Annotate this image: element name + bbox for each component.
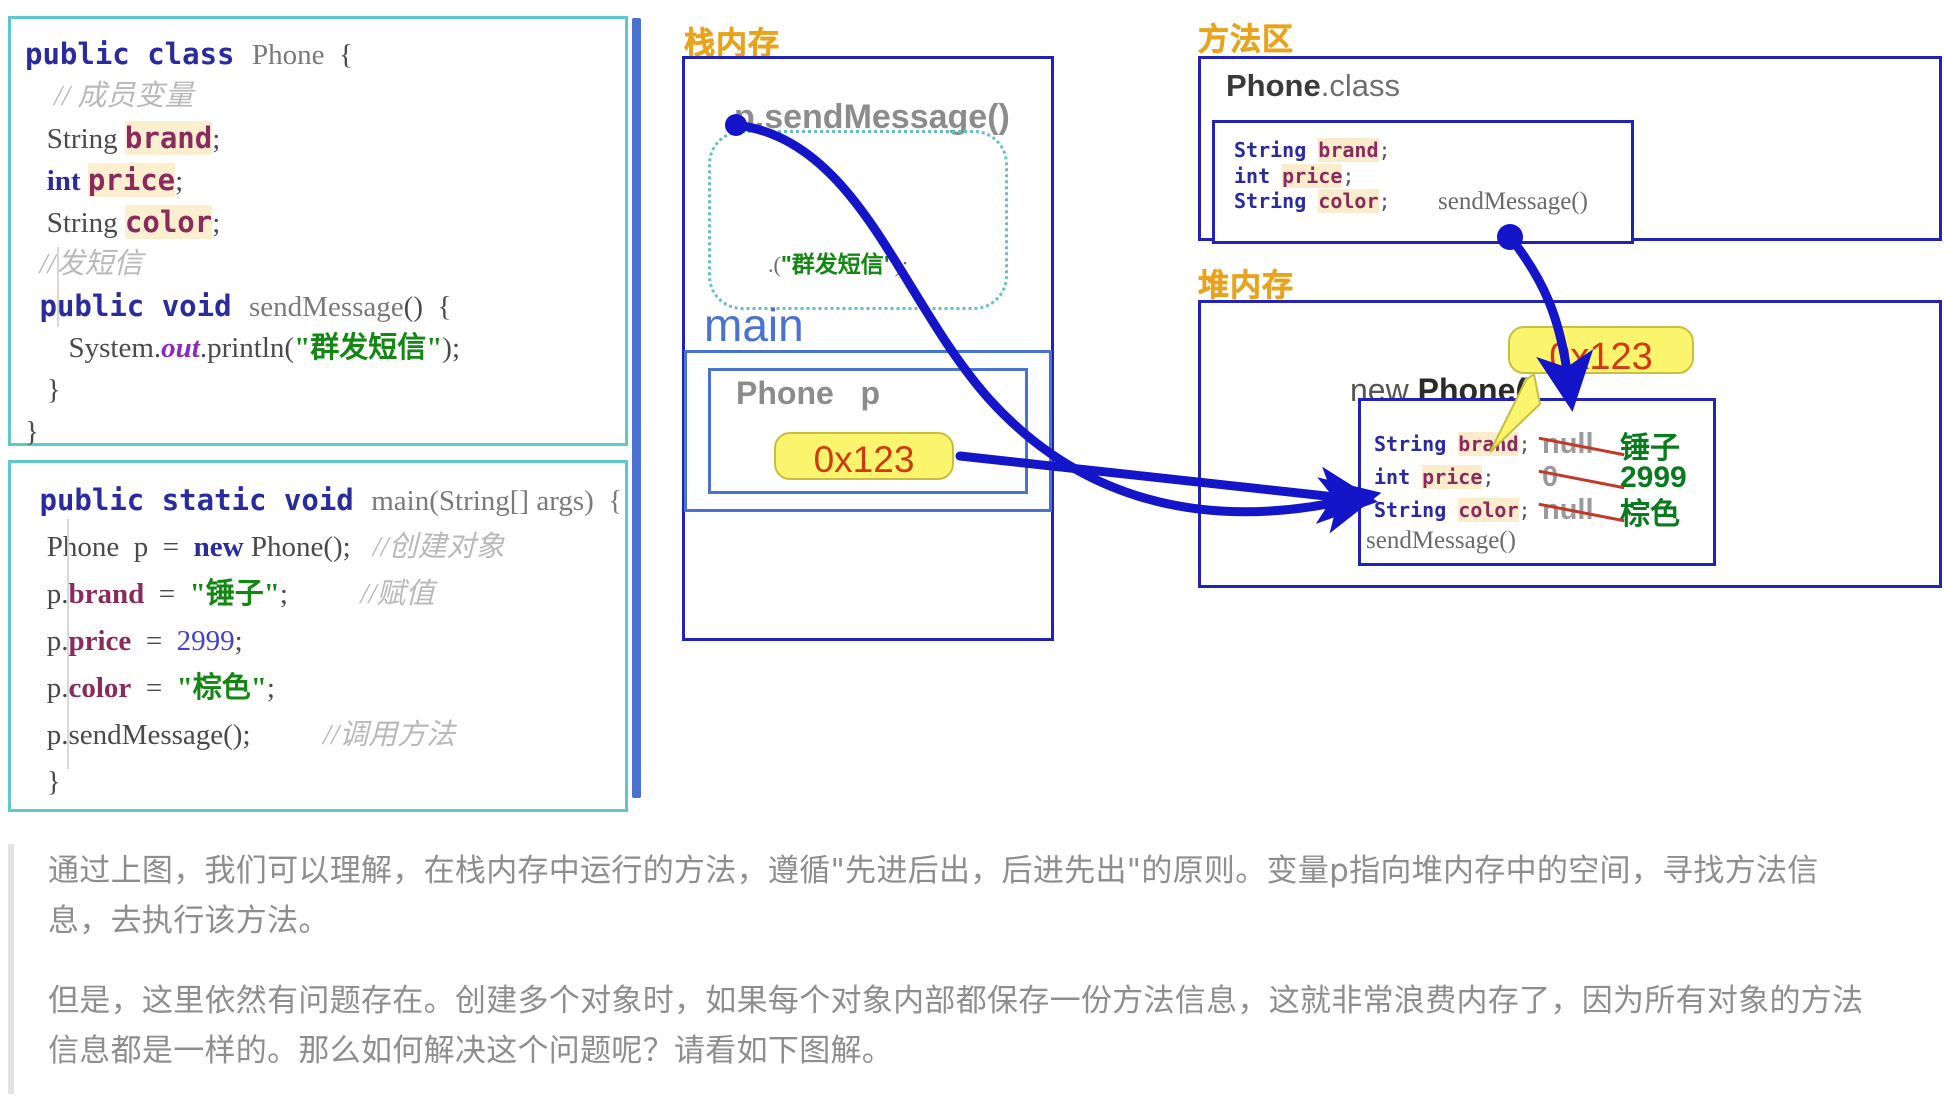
code-token: brand bbox=[69, 578, 145, 610]
field-name: brand bbox=[1458, 432, 1518, 456]
code-token: ; bbox=[212, 207, 220, 239]
page-root: public class Phone { // 成员变量 String bran… bbox=[0, 0, 1944, 1102]
stack-frame-sendmessage-body: .("群发短信"); bbox=[768, 245, 908, 279]
code-token: Phone p = bbox=[25, 531, 194, 563]
field-type: String bbox=[1234, 189, 1306, 213]
code-token: = bbox=[131, 672, 176, 704]
code-line: int price; bbox=[25, 159, 625, 201]
code-token: } bbox=[25, 766, 61, 798]
code-token: //赋值 bbox=[360, 578, 434, 610]
field-sep: ; bbox=[1342, 164, 1354, 188]
code-token: price bbox=[88, 163, 175, 197]
code-token: p. bbox=[25, 578, 69, 610]
field-name: brand bbox=[1318, 138, 1378, 162]
code-token: } bbox=[25, 416, 39, 448]
field-sep: ; bbox=[1519, 432, 1531, 456]
code-token: //发短信 bbox=[40, 248, 143, 280]
prose-accent-bar bbox=[8, 844, 14, 1094]
code-token: public void bbox=[40, 289, 250, 323]
heap-field-decl: String brand; bbox=[1374, 432, 1542, 458]
field-type: String bbox=[1234, 138, 1306, 162]
code-token: out bbox=[161, 332, 200, 364]
prose-section: 通过上图，我们可以理解，在栈内存中运行的方法，遵循"先进后出，后进先出"的原则。… bbox=[0, 836, 1944, 1102]
method-area-zone-title: 方法区 bbox=[1198, 14, 1294, 59]
code-token: //调用方法 bbox=[323, 719, 455, 751]
field-type: int bbox=[1374, 465, 1410, 489]
method-area-field-row: String color; bbox=[1234, 189, 1391, 215]
code-token bbox=[25, 485, 40, 517]
method-area-method-label: sendMessage() bbox=[1438, 188, 1588, 216]
code-line: } bbox=[25, 411, 625, 453]
code-token: { bbox=[324, 39, 352, 71]
field-sep: ; bbox=[1379, 138, 1391, 162]
heap-field-decl: String color; bbox=[1374, 498, 1542, 524]
field-sep: ; bbox=[1519, 498, 1531, 522]
code-token: color bbox=[125, 205, 212, 239]
field-name: color bbox=[1318, 189, 1378, 213]
code-line: String color; bbox=[25, 201, 625, 243]
field-type: String bbox=[1374, 432, 1446, 456]
code-token: "棕色" bbox=[177, 672, 267, 704]
code-token: String bbox=[25, 207, 125, 239]
code-token: "群发短信" bbox=[294, 332, 442, 364]
code-column: public class Phone { // 成员变量 String bran… bbox=[8, 16, 628, 812]
code-token bbox=[25, 248, 40, 280]
code-line: String brand; bbox=[25, 117, 625, 159]
code-block-phone-class: public class Phone { // 成员变量 String bran… bbox=[8, 16, 628, 446]
code-token: "锤子" bbox=[190, 578, 280, 610]
code-token: = bbox=[144, 578, 189, 610]
code-token: ); bbox=[442, 332, 460, 364]
code-token: main(String[] args) { bbox=[371, 485, 622, 517]
code-token: p. bbox=[25, 625, 69, 657]
code-token: sendMessage bbox=[249, 291, 404, 323]
code-line: } bbox=[25, 759, 625, 806]
heap-field-row: String color;null棕色 bbox=[1374, 494, 1687, 527]
stack-variable-type: Phone bbox=[736, 375, 834, 411]
code-token: () { bbox=[404, 291, 452, 323]
heap-field-decl: int price; bbox=[1374, 465, 1542, 491]
code-token: ; bbox=[235, 625, 243, 657]
code-token: p. bbox=[25, 672, 69, 704]
code-token: Phone(); bbox=[251, 531, 373, 563]
heap-object-method-label: sendMessage() bbox=[1366, 527, 1516, 555]
field-type: String bbox=[1374, 498, 1446, 522]
heap-field-old-value: null bbox=[1542, 428, 1620, 461]
field-name: color bbox=[1458, 498, 1518, 522]
field-sep: ; bbox=[1379, 189, 1391, 213]
code-line: System.out.println("群发短信"); bbox=[25, 327, 625, 369]
code-line: p.color = "棕色"; bbox=[25, 665, 625, 712]
code-token: ; bbox=[175, 165, 183, 197]
code-token: } bbox=[25, 374, 61, 406]
code-token bbox=[25, 291, 40, 323]
heap-zone-title: 堆内存 bbox=[1198, 260, 1294, 305]
heap-field-new-value: 棕色 bbox=[1620, 489, 1680, 533]
method-area-class-name: Phone bbox=[1226, 68, 1321, 103]
stack-variable-declaration: Phone p bbox=[736, 375, 880, 412]
stack-frame-sendmessage-box bbox=[708, 130, 1008, 310]
code-token: 2999 bbox=[177, 625, 235, 657]
method-area-field-row: int price; bbox=[1234, 164, 1391, 190]
code-line: // 成员变量 bbox=[25, 75, 625, 117]
field-type: int bbox=[1234, 164, 1270, 188]
code-line: public static void main(String[] args) { bbox=[25, 477, 625, 524]
code-token: p.sendMessage(); bbox=[25, 719, 323, 751]
method-area-class-suffix: .class bbox=[1321, 68, 1400, 103]
field-name: price bbox=[1422, 465, 1482, 489]
code-line: Phone p = new Phone(); //创建对象 bbox=[25, 524, 625, 571]
code-line: p.price = 2999; bbox=[25, 618, 625, 665]
method-area-fields: String brand;int price;String color; bbox=[1234, 138, 1391, 215]
code-token bbox=[25, 165, 47, 197]
heap-object-fields: String brand;null锤子int price;02999String… bbox=[1374, 428, 1687, 527]
code-token: int bbox=[47, 165, 88, 197]
code-token: System. bbox=[25, 332, 161, 364]
code-token: ; bbox=[212, 123, 220, 155]
stack-variable-value-pill: 0x123 bbox=[774, 432, 954, 480]
method-area-field-row: String brand; bbox=[1234, 138, 1391, 164]
code-token: = bbox=[131, 625, 176, 657]
code-token: brand bbox=[125, 121, 212, 155]
code-token: //创建对象 bbox=[372, 531, 504, 563]
code-token: color bbox=[69, 672, 132, 704]
code-token: .println( bbox=[200, 332, 294, 364]
code-line: public class Phone { bbox=[25, 33, 625, 75]
code-token: price bbox=[69, 625, 132, 657]
heap-field-old-value: null bbox=[1542, 494, 1620, 527]
code-block-main-method: public static void main(String[] args) {… bbox=[8, 460, 628, 812]
heap-address-callout: 0x123 bbox=[1508, 326, 1694, 374]
code-token: ; bbox=[280, 578, 361, 610]
code-line: p.brand = "锤子"; //赋值 bbox=[25, 571, 625, 618]
method-area-class-label: Phone.class bbox=[1226, 68, 1400, 104]
memory-diagram: 栈内存 p.sendMessage() .("群发短信"); main Phon… bbox=[660, 0, 1944, 810]
code-token: public class bbox=[25, 37, 252, 71]
prose-paragraph-2: 但是，这里依然有问题存在。创建多个对象时，如果每个对象内部都保存一份方法信息，这… bbox=[48, 976, 1878, 1076]
code-line: p.sendMessage(); //调用方法 bbox=[25, 712, 625, 759]
heap-field-row: String brand;null锤子 bbox=[1374, 428, 1687, 461]
heap-field-old-value: 0 bbox=[1542, 461, 1620, 494]
code-token: // 成员变量 bbox=[54, 80, 193, 112]
code-token: public static void bbox=[40, 483, 372, 517]
code-token: Phone bbox=[252, 39, 325, 71]
stack-frame-main-label: main bbox=[704, 298, 804, 352]
prose-paragraph-1: 通过上图，我们可以理解，在栈内存中运行的方法，遵循"先进后出，后进先出"的原则。… bbox=[48, 846, 1878, 946]
code-line: } bbox=[25, 369, 625, 411]
vertical-separator-bar bbox=[632, 18, 641, 798]
code-token: ; bbox=[267, 672, 275, 704]
code-token bbox=[25, 80, 54, 112]
code-line: //发短信 bbox=[25, 243, 625, 285]
field-name: price bbox=[1282, 164, 1342, 188]
code-token: String bbox=[25, 123, 125, 155]
field-sep: ; bbox=[1482, 465, 1494, 489]
code-token: new bbox=[194, 531, 251, 563]
code-line: public void sendMessage() { bbox=[25, 285, 625, 327]
stack-variable-name: p bbox=[860, 375, 880, 411]
